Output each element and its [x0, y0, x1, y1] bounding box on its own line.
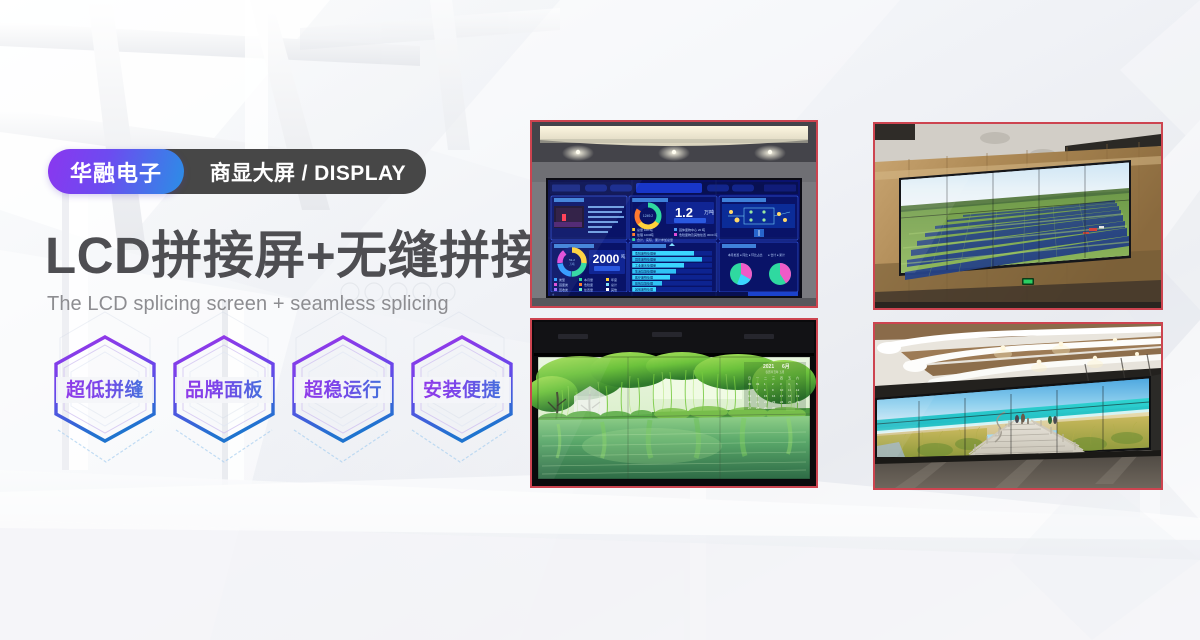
svg-text:总量 100 吨: 总量 100 吨 [637, 227, 653, 232]
svg-text:危险废物及其他处置 3000 吨: 危险废物及其他处置 3000 吨 [679, 232, 717, 237]
svg-text:处置量: 处置量 [584, 287, 593, 292]
dashboard-counter-unit: 吨 [621, 253, 626, 259]
svg-text:三: 三 [772, 376, 775, 380]
subheadline: The LCD splicing screen + seamless splic… [47, 293, 449, 316]
svg-text:年度: 年度 [611, 277, 617, 282]
svg-text:31: 31 [756, 382, 760, 386]
svg-text:其他: 其他 [611, 287, 617, 292]
svg-text:一: 一 [756, 376, 759, 380]
photo-top-left: 1249.2 1.2 万吨 总量 100 吨 处理 1000吨 合计、实际、累计… [530, 120, 818, 308]
dashboard-highlight-value: 1.2 [675, 205, 693, 220]
svg-text:28: 28 [756, 406, 760, 410]
svg-text:17: 17 [780, 394, 784, 398]
calendar-month: 6月 [782, 363, 790, 370]
svg-text:● 合计 ● 累计: ● 合计 ● 累计 [768, 253, 785, 257]
svg-text:五: 五 [788, 376, 791, 380]
headline: LCD拼接屏+无缝拼接 [45, 228, 542, 284]
brand-pill-label: 华融电子 [70, 156, 162, 188]
svg-text:其他废物处理: 其他废物处理 [635, 286, 653, 291]
svg-text:建筑垃圾处理: 建筑垃圾处理 [635, 280, 653, 285]
svg-text:固体废物中心 20 吨: 固体废物中心 20 吨 [679, 227, 705, 232]
svg-text:30: 30 [772, 406, 776, 410]
svg-text:危险废: 危险废 [584, 282, 593, 287]
feature-badge-1: 超低拼缝 [50, 333, 160, 445]
calendar-year: 2021 [763, 364, 774, 370]
svg-text:12: 12 [796, 388, 800, 392]
feature-badge-label: 超低拼缝 [50, 375, 160, 402]
dashboard-highlight-unit: 万吨 [704, 209, 714, 216]
photo-bottom-left: 2021 6月 农历辛丑年 五月 日一二 三四五 六 30311 2345 67… [530, 318, 818, 488]
svg-text:四: 四 [780, 376, 783, 380]
svg-text:22: 22 [764, 400, 768, 404]
svg-text:15: 15 [764, 394, 768, 398]
category-pill-label: 商显大屏 / DISPLAY [210, 157, 406, 187]
svg-text:29: 29 [764, 406, 768, 410]
svg-text:二: 二 [764, 376, 767, 380]
svg-text:13: 13 [748, 394, 752, 398]
photo-top-right [873, 122, 1163, 310]
svg-text:本月处置 ● 同比 ● 环比占比: 本月处置 ● 同比 ● 环比占比 [728, 253, 763, 257]
svg-text:六: 六 [796, 375, 799, 380]
svg-text:16: 16 [772, 394, 776, 398]
svg-text:生活垃圾处理量: 生活垃圾处理量 [635, 268, 656, 273]
svg-text:1249.2: 1249.2 [643, 214, 653, 218]
svg-text:14: 14 [756, 394, 760, 398]
category-pill: 商显大屏 / DISPLAY [144, 149, 426, 194]
feature-badge-label: 品牌面板 [169, 375, 279, 402]
calendar-overlay: 2021 6月 农历辛丑年 五月 日一二 三四五 六 30311 2345 67… [744, 362, 806, 411]
svg-text:20: 20 [748, 400, 752, 404]
promo-banner: 商显大屏 / DISPLAY 华融电子 LCD拼接屏+无缝拼接 The LCD … [0, 0, 1200, 640]
svg-text:10: 10 [780, 388, 784, 392]
svg-text:21: 21 [756, 400, 760, 404]
feature-badge-list: 超低拼缝 品牌面板 超稳运行 [50, 333, 517, 445]
svg-text:日: 日 [748, 376, 751, 380]
svg-text:危险废物处理量: 危险废物处理量 [635, 250, 656, 255]
svg-text:本月量: 本月量 [584, 277, 593, 282]
svg-text:总计: 总计 [611, 282, 617, 287]
svg-text:19: 19 [796, 394, 800, 398]
feature-badge-label: 超稳运行 [288, 375, 398, 402]
dashboard-counter-value: 2000 [593, 252, 620, 266]
svg-text:24: 24 [780, 400, 784, 404]
lake-scenery-video-wall-image: 2021 6月 农历辛丑年 五月 日一二 三四五 六 30311 2345 67… [532, 320, 816, 486]
dashboard-video-wall-image: 1249.2 1.2 万吨 总量 100 吨 处理 1000吨 合计、实际、累计… [532, 122, 816, 306]
feature-badge-2: 品牌面板 [169, 333, 279, 445]
feature-badge-label: 安装便捷 [407, 375, 517, 402]
svg-text:27: 27 [748, 406, 752, 410]
svg-text:23: 23 [772, 400, 776, 404]
solar-farm-video-wall-image [875, 124, 1161, 308]
svg-text:工业废水处理量: 工业废水处理量 [635, 262, 656, 267]
photo-bottom-right [873, 322, 1163, 490]
feature-badge-3: 超稳运行 [288, 333, 398, 445]
feature-badge-4: 安装便捷 [407, 333, 517, 445]
brand-pill: 华融电子 [48, 149, 184, 194]
svg-text:医疗废物处理: 医疗废物处理 [635, 274, 653, 279]
svg-text:农历辛丑年 五月: 农历辛丑年 五月 [766, 370, 785, 374]
beach-boardwalk-video-wall-image [875, 324, 1161, 488]
svg-text:30: 30 [748, 382, 752, 386]
svg-text:26: 26 [796, 400, 800, 404]
svg-text:固体废物处理量: 固体废物处理量 [635, 256, 656, 261]
svg-text:处理 1000吨: 处理 1000吨 [637, 232, 654, 237]
